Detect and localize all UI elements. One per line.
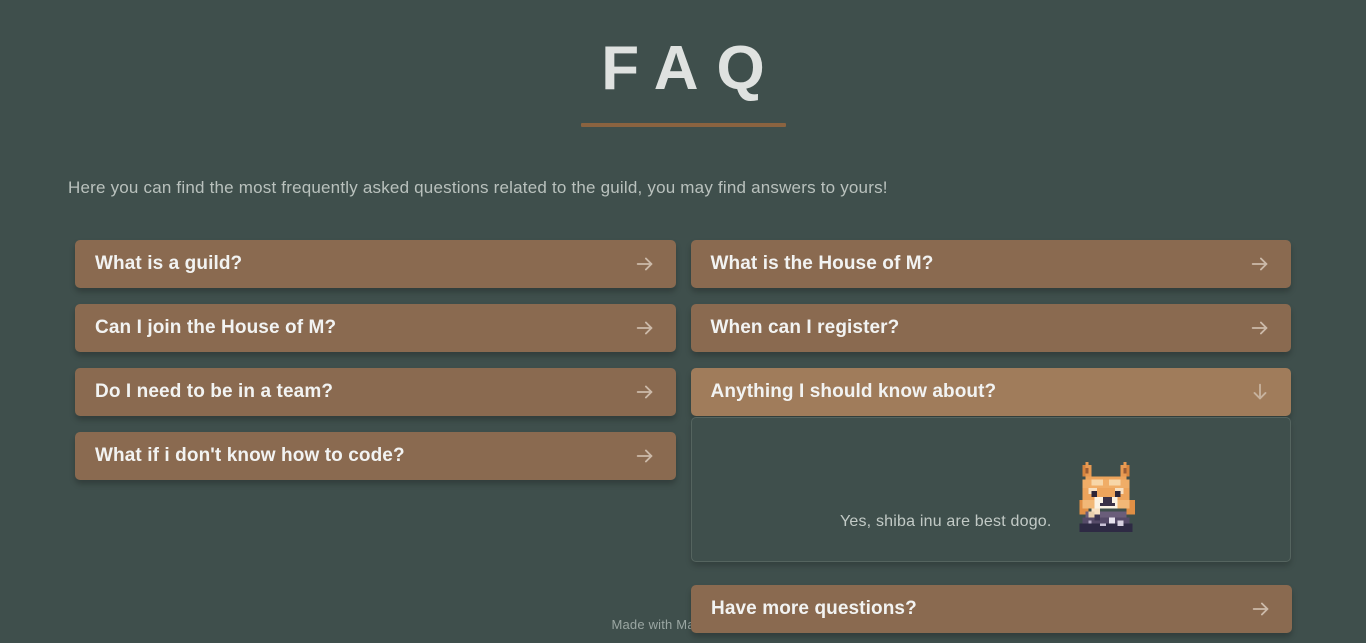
- faq-column-left: What is a guild? Can I join the House of…: [75, 240, 676, 578]
- faq-question-house-of-m[interactable]: What is the House of M?: [691, 240, 1292, 288]
- faq-question-when-register[interactable]: When can I register?: [691, 304, 1292, 352]
- faq-item: What if i don't know how to code?: [75, 432, 676, 480]
- title-divider: [581, 123, 786, 127]
- faq-question-dont-know-code[interactable]: What if i don't know how to code?: [75, 432, 676, 480]
- faq-page: FAQ Here you can find the most frequentl…: [0, 0, 1366, 643]
- arrow-right-icon: [1249, 253, 1271, 275]
- arrow-right-icon: [634, 445, 656, 467]
- faq-question-can-i-join[interactable]: Can I join the House of M?: [75, 304, 676, 352]
- faq-question-what-is-a-guild[interactable]: What is a guild?: [75, 240, 676, 288]
- faq-question-have-more-questions[interactable]: Have more questions?: [691, 585, 1292, 633]
- shiba-inu-image: [1070, 459, 1142, 535]
- faq-item: What is a guild?: [75, 240, 676, 288]
- arrow-right-icon: [634, 381, 656, 403]
- faq-question-label: When can I register?: [711, 317, 1250, 339]
- page-header: FAQ: [0, 0, 1366, 127]
- faq-question-label: What is the House of M?: [711, 253, 1250, 275]
- faq-question-need-team[interactable]: Do I need to be in a team?: [75, 368, 676, 416]
- page-subtitle: Here you can find the most frequently as…: [68, 178, 1298, 198]
- faq-question-anything-to-know[interactable]: Anything I should know about?: [691, 368, 1292, 416]
- faq-grid: What is a guild? Can I join the House of…: [75, 240, 1291, 578]
- faq-question-label: What is a guild?: [95, 253, 634, 275]
- faq-question-label: Can I join the House of M?: [95, 317, 634, 339]
- arrow-down-icon: [1249, 381, 1271, 403]
- faq-item-expanded: Anything I should know about? Yes, shiba…: [691, 368, 1292, 562]
- faq-item: When can I register?: [691, 304, 1292, 352]
- faq-question-label: Have more questions?: [711, 598, 1250, 620]
- faq-answer-text: Yes, shiba inu are best dogo.: [840, 513, 1052, 535]
- faq-question-label: What if i don't know how to code?: [95, 445, 634, 467]
- faq-question-label: Do I need to be in a team?: [95, 381, 634, 403]
- arrow-right-icon: [1249, 317, 1271, 339]
- arrow-right-icon: [1250, 598, 1272, 620]
- faq-item: What is the House of M?: [691, 240, 1292, 288]
- faq-answer-content: Yes, shiba inu are best dogo.: [692, 459, 1291, 535]
- faq-item: Do I need to be in a team?: [75, 368, 676, 416]
- faq-column-right: What is the House of M? When can I regis…: [691, 240, 1292, 578]
- arrow-right-icon: [634, 317, 656, 339]
- faq-question-label: Anything I should know about?: [711, 381, 1250, 403]
- page-title: FAQ: [0, 36, 1366, 101]
- faq-answer-panel: Yes, shiba inu are best dogo.: [691, 417, 1292, 562]
- faq-item: Have more questions?: [691, 585, 1292, 633]
- arrow-right-icon: [634, 253, 656, 275]
- faq-item: Can I join the House of M?: [75, 304, 676, 352]
